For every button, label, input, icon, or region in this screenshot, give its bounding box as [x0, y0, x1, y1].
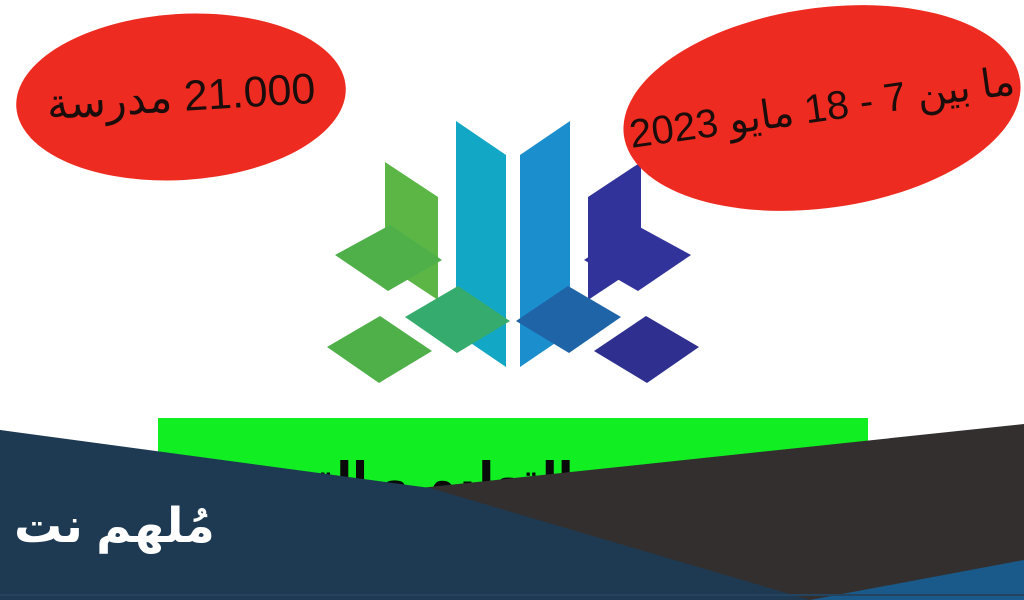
- announcement-graphic: هيئة تقويم التعليم و التدريب 21.000 مدرس…: [0, 0, 1024, 600]
- callout-date-range-label: ما بين 7 - 18 مايو 2023: [627, 61, 1017, 155]
- overlay-bottom-rule: [0, 594, 1024, 596]
- organization-name-banner: هيئة تقويم التعليم و التدريب: [158, 418, 868, 548]
- callout-schools-count-label: 21.000 مدرسة: [45, 67, 316, 126]
- logo-shape-left-diamond-bottom: [327, 316, 432, 383]
- site-watermark: مُلهم نت: [14, 498, 215, 554]
- logo-shape-right-diamond-bottom: [594, 316, 699, 383]
- overlay-blue-strip: [810, 560, 1024, 600]
- organization-name-text: هيئة تقويم التعليم و التدريب: [158, 452, 868, 506]
